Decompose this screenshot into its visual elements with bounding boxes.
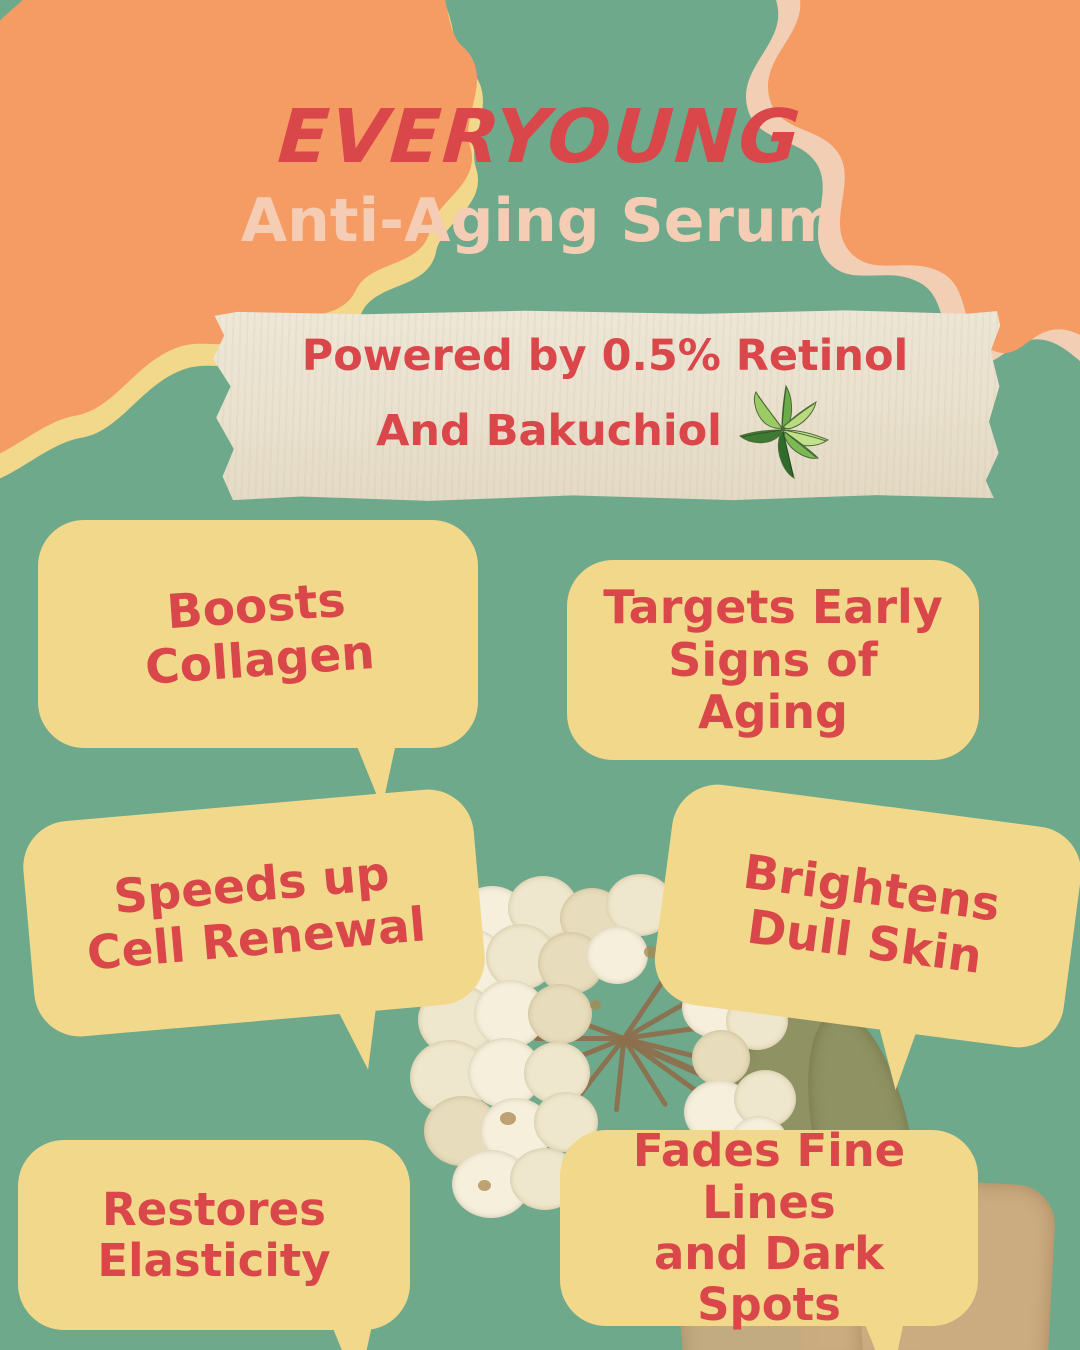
benefit-bubble-boosts-collagen[interactable]: Boosts Collagen [38,520,478,748]
product-subtitle: Anti-Aging Serum [0,188,1080,254]
poster-canvas: EVERYOUNG Anti-Aging Serum Powered by 0.… [0,0,1080,1350]
torn-paper-banner: Powered by 0.5% Retinol And Bakuchiol [205,308,1005,504]
benefit-text: Fades Fine Lines and Dark Spots [586,1125,952,1330]
banner-line-retinol: Powered by 0.5% Retinol [302,332,909,382]
banner-line-1-text: Powered by 0.5% Retinol [302,332,909,382]
bakuchiol-leaf-sprig-icon [732,384,834,480]
benefit-bubble-restores-elasticity[interactable]: Restores Elasticity [18,1140,410,1330]
benefit-bubble-targets-early-signs[interactable]: Targets Early Signs of Aging [567,560,979,760]
brand-title: EVERYOUNG [0,100,1080,174]
banner-line-bakuchiol: And Bakuchiol [376,384,834,480]
benefit-text: Boosts Collagen [61,567,456,701]
benefit-text: Speeds up Cell Renewal [80,845,428,981]
benefit-text: Brightens Dull Skin [733,846,1003,986]
benefit-bubble-fades-fine-lines[interactable]: Fades Fine Lines and Dark Spots [560,1130,978,1326]
benefit-text: Targets Early Signs of Aging [593,581,953,738]
headline-block: EVERYOUNG Anti-Aging Serum [0,100,1080,254]
benefit-text: Restores Elasticity [97,1184,330,1287]
bubble-tail [866,1013,921,1092]
benefit-bubble-speeds-cell-renewal[interactable]: Speeds up Cell Renewal [19,786,488,1041]
banner-line-2-text: And Bakuchiol [376,407,722,457]
banner-text-block: Powered by 0.5% Retinol And Bakuchiol [205,308,1005,504]
bubble-tail [332,995,384,1073]
bubble-tail [328,1316,374,1350]
bubble-tail [860,1312,906,1350]
